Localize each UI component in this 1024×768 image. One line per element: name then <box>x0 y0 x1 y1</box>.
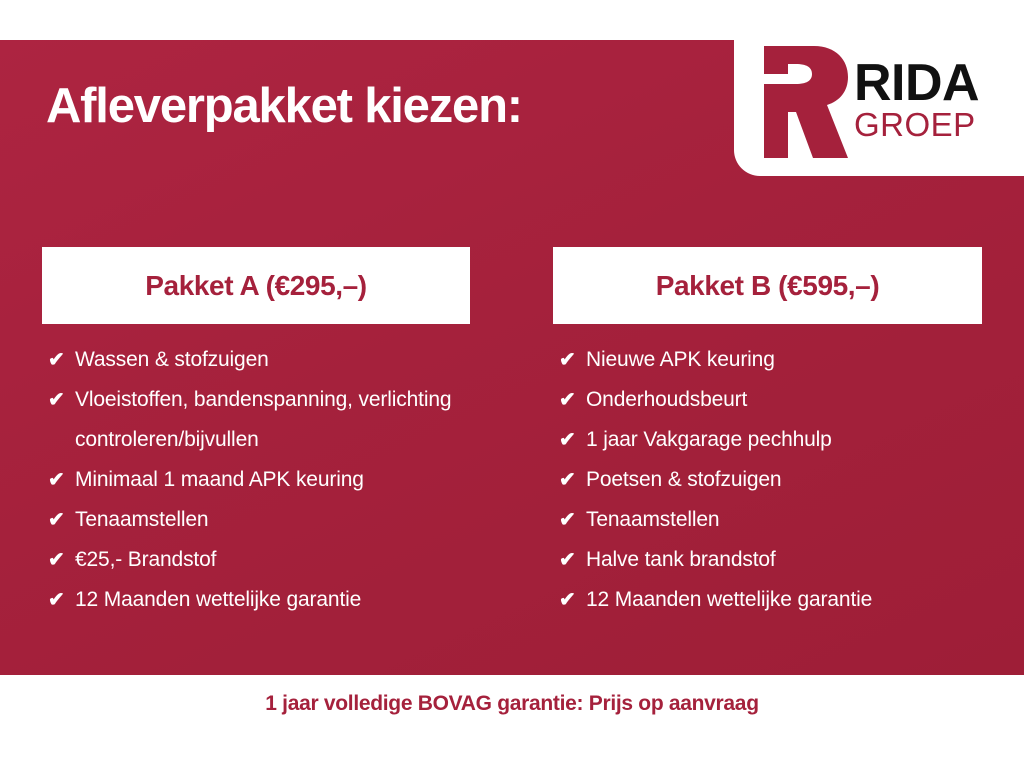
feature-label: Poetsen & stofzuigen <box>586 460 982 500</box>
check-icon: ✔ <box>559 340 586 380</box>
list-item: ✔ Tenaamstellen <box>553 500 982 540</box>
package-column-b: Pakket B (€595,–) ✔ Nieuwe APK keuring ✔… <box>512 247 1024 620</box>
package-a-title: Pakket A (€295,–) <box>145 270 366 302</box>
list-item: ✔ Minimaal 1 maand APK keuring <box>42 460 470 500</box>
check-icon: ✔ <box>559 500 586 540</box>
list-item: ✔ Poetsen & stofzuigen <box>553 460 982 500</box>
feature-label: Halve tank brandstof <box>586 540 982 580</box>
feature-label: Tenaamstellen <box>75 500 470 540</box>
list-item: ✔ Wassen & stofzuigen <box>42 340 470 380</box>
page-title: Afleverpakket kiezen: <box>46 78 522 134</box>
check-icon: ✔ <box>48 340 75 380</box>
check-icon: ✔ <box>48 380 75 420</box>
feature-label: Onderhoudsbeurt <box>586 380 982 420</box>
package-b-title: Pakket B (€595,–) <box>656 270 880 302</box>
list-item: ✔ Nieuwe APK keuring <box>553 340 982 380</box>
package-b-feature-list: ✔ Nieuwe APK keuring ✔ Onderhoudsbeurt ✔… <box>553 340 982 620</box>
package-a-header-card[interactable]: Pakket A (€295,–) <box>42 247 470 324</box>
list-item: ✔ Tenaamstellen <box>42 500 470 540</box>
check-icon: ✔ <box>559 540 586 580</box>
footer-note: 1 jaar volledige BOVAG garantie: Prijs o… <box>265 692 758 716</box>
logo-subtitle: GROEP <box>854 110 979 140</box>
feature-label: Vloeistoffen, bandenspanning, verlichtin… <box>75 380 470 460</box>
check-icon: ✔ <box>48 460 75 500</box>
footer-bar: 1 jaar volledige BOVAG garantie: Prijs o… <box>0 675 1024 768</box>
package-a-feature-list: ✔ Wassen & stofzuigen ✔ Vloeistoffen, ba… <box>42 340 470 620</box>
feature-label: 12 Maanden wettelijke garantie <box>586 580 982 620</box>
logo-name: RIDA <box>854 60 979 108</box>
logo-wordmark: RIDA GROEP <box>854 60 979 144</box>
list-item: ✔ 12 Maanden wettelijke garantie <box>553 580 982 620</box>
package-b-header-card[interactable]: Pakket B (€595,–) <box>553 247 982 324</box>
package-column-a: Pakket A (€295,–) ✔ Wassen & stofzuigen … <box>0 247 512 620</box>
check-icon: ✔ <box>559 420 586 460</box>
list-item: ✔ Halve tank brandstof <box>553 540 982 580</box>
check-icon: ✔ <box>559 580 586 620</box>
feature-label: Wassen & stofzuigen <box>75 340 470 380</box>
check-icon: ✔ <box>48 500 75 540</box>
check-icon: ✔ <box>48 540 75 580</box>
feature-label: Nieuwe APK keuring <box>586 340 982 380</box>
feature-label: Tenaamstellen <box>586 500 982 540</box>
brand-logo-panel: RIDA GROEP <box>734 28 1024 176</box>
list-item: ✔ Vloeistoffen, bandenspanning, verlicht… <box>42 380 470 460</box>
feature-label: Minimaal 1 maand APK keuring <box>75 460 470 500</box>
list-item: ✔ 1 jaar Vakgarage pechhulp <box>553 420 982 460</box>
check-icon: ✔ <box>559 380 586 420</box>
check-icon: ✔ <box>559 460 586 500</box>
list-item: ✔ 12 Maanden wettelijke garantie <box>42 580 470 620</box>
feature-label: 12 Maanden wettelijke garantie <box>75 580 470 620</box>
slide-root: RIDA GROEP Afleverpakket kiezen: Pakket … <box>0 0 1024 768</box>
feature-label: 1 jaar Vakgarage pechhulp <box>586 420 982 460</box>
list-item: ✔ €25,- Brandstof <box>42 540 470 580</box>
feature-label: €25,- Brandstof <box>75 540 470 580</box>
list-item: ✔ Onderhoudsbeurt <box>553 380 982 420</box>
packages-container: Pakket A (€295,–) ✔ Wassen & stofzuigen … <box>0 247 1024 620</box>
rida-r-monogram-icon <box>756 46 848 158</box>
check-icon: ✔ <box>48 580 75 620</box>
